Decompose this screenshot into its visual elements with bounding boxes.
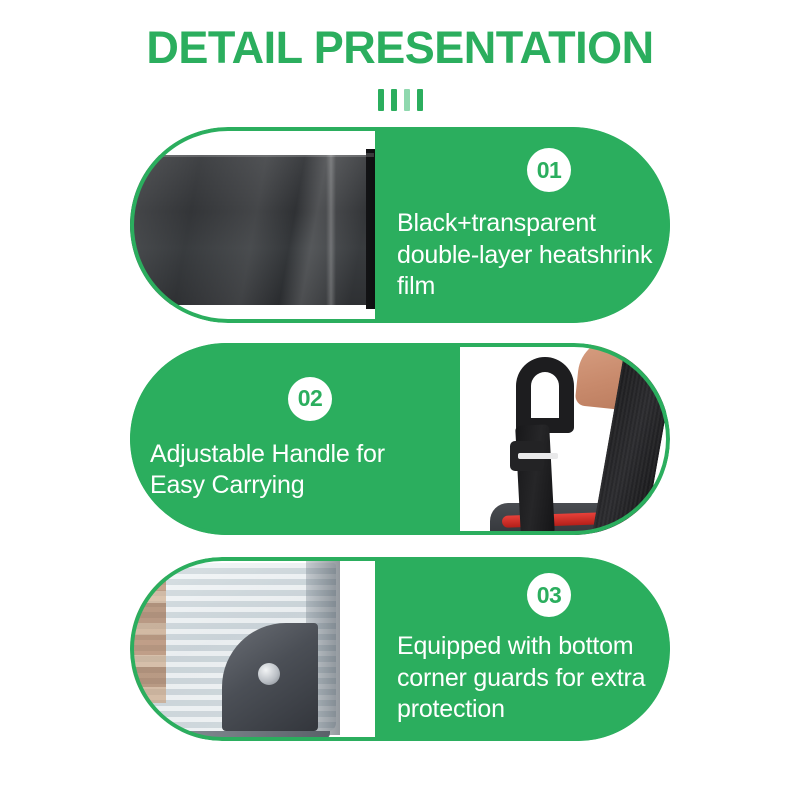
film-edge-shape [366,149,375,309]
pack-base-shape [134,731,330,739]
feature-number-badge-01: 01 [527,148,571,192]
divider-bar-2 [391,89,397,111]
product-photo-heatshrink-film [130,127,375,323]
feature-card-list: 01 Black+transparent double-layer heatsh… [0,127,800,741]
divider-bars [0,89,800,111]
battery-cells-shape [130,575,166,703]
detail-presentation-page: DETAIL PRESENTATION 01 Black+transparent… [0,0,800,801]
divider-bar-4 [417,89,423,111]
feature-text-03: Equipped with bottom corner guards for e… [397,631,656,726]
feature-card-03[interactable]: 03 Equipped with bottom corner guards fo… [130,557,670,741]
divider-bar-3 [404,89,410,111]
feature-card-01-panel: 01 Black+transparent double-layer heatsh… [375,127,670,323]
buckle-bar-shape [518,453,558,459]
feature-text-01: Black+transparent double-layer heatshrin… [397,208,656,303]
feature-number-badge-03: 03 [527,573,571,617]
strap-loop-shape [516,357,574,433]
product-photo-corner-guard [130,557,375,741]
product-photo-carrying-strap [460,343,670,535]
feature-card-03-panel: 03 Equipped with bottom corner guards fo… [375,557,670,741]
film-crease-shape [326,155,336,305]
divider-bar-1 [378,89,384,111]
feature-card-01[interactable]: 01 Black+transparent double-layer heatsh… [130,127,670,323]
feature-number-badge-02: 02 [288,377,332,421]
feature-card-02[interactable]: 02 Adjustable Handle for Easy Carrying [130,343,670,535]
page-header: DETAIL PRESENTATION [0,0,800,111]
page-title: DETAIL PRESENTATION [0,24,800,71]
film-highlight-shape [130,153,374,157]
feature-text-02: Adjustable Handle for Easy Carrying [150,439,442,502]
feature-card-02-panel: 02 Adjustable Handle for Easy Carrying [130,343,460,535]
